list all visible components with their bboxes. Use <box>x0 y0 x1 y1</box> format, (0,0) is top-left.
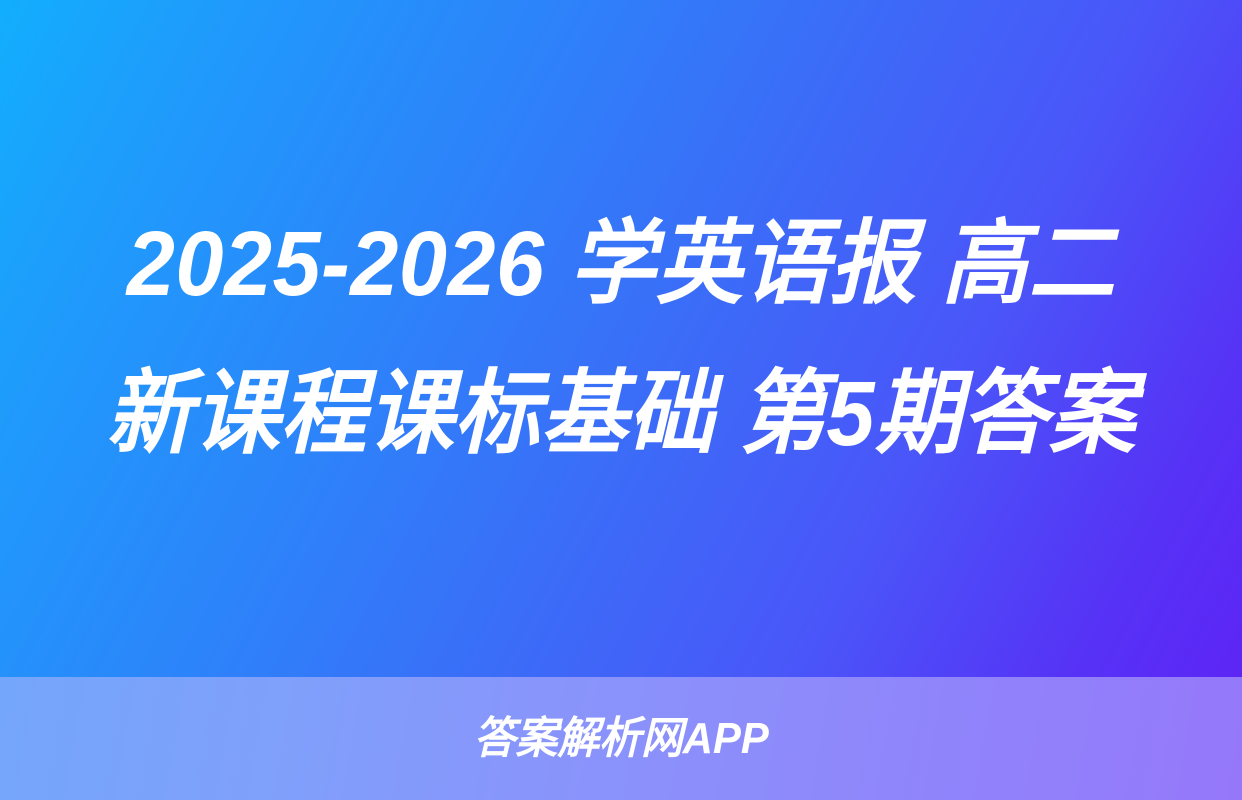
answer-cover-card: 2025-2026 学英语报 高二 新课程课标基础 第5期答案 答案解析网APP <box>0 0 1242 800</box>
hero-gradient-banner: 2025-2026 学英语报 高二 新课程课标基础 第5期答案 <box>0 0 1242 677</box>
watermark-band: 答案解析网APP <box>0 677 1242 800</box>
app-watermark-label: 答案解析网APP <box>474 717 769 761</box>
page-title: 2025-2026 学英语报 高二 新课程课标基础 第5期答案 <box>99 189 1142 489</box>
